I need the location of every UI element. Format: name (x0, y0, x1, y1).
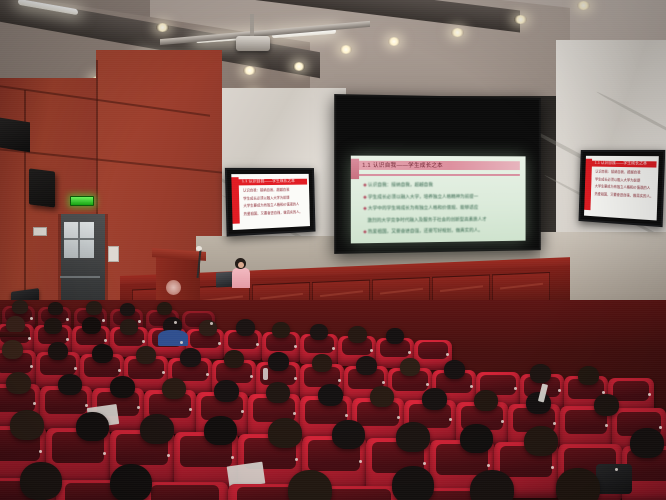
audience-head (474, 390, 498, 411)
left-lcd-display: 1.1 认识自我——学生成长之本 认识自我：接纳自我，超越自我 学生成长必须以融… (225, 168, 316, 237)
lcd-slide: 1.1 认识自我——学生成长之本 认识自我：接纳自我，超越自我 学生成长必须以融… (584, 156, 659, 221)
audience-head (162, 378, 186, 399)
wall-speaker (0, 118, 30, 153)
microphone-icon (196, 246, 202, 251)
audience-head (396, 422, 430, 452)
audience-head (370, 386, 394, 407)
slide-body: 认识自我：接纳自我，超越自我 学生成长必须以融入大学为前提 大学生要成为有独立人… (243, 188, 306, 220)
audience-head (48, 342, 68, 360)
audience-head (224, 350, 244, 368)
wall-control-plate[interactable] (33, 227, 47, 236)
lcd-slide: 1.1 认识自我——学生成长之本 认识自我：接纳自我，超越自我 学生成长必须以融… (231, 174, 310, 230)
audience-head (310, 324, 328, 340)
audience-head (578, 366, 599, 385)
audience-head (530, 364, 551, 383)
slide-bullet: 大学生要成为有独立人格和价值观的人 (243, 203, 306, 209)
audience-head (630, 428, 664, 458)
audience-head (92, 344, 113, 363)
main-projection-screen: 1.1 认识自我——学生成长之本 ◆认识自我：接纳自我，超越自我 ◆学生成长必须… (334, 94, 541, 254)
ceiling-downlight (388, 37, 400, 46)
audience-head (6, 372, 31, 394)
slide-bullet: ◆热爱祖国，又要奋进自强，还要写好规划，做真实的人。 (363, 227, 518, 234)
audience-head (266, 382, 290, 403)
audience-head (120, 319, 138, 335)
slide-bullet: ◆大学中的学生将成长为有独立人格和价值观、能够适应 (363, 205, 518, 211)
audience-head (20, 462, 62, 500)
bullet-marker: ◆ (363, 194, 367, 199)
slide-bullet: ◆学生成长必须以融入大学，培养独立人格精神为前提一 (363, 193, 518, 199)
audience-head (470, 470, 514, 500)
audience-head (348, 326, 367, 343)
audience-head (2, 340, 23, 359)
slide-bullet: ◆认识自我：接纳自我，超越自我 (363, 182, 518, 187)
audience-head (356, 356, 377, 375)
door-railing (60, 276, 100, 278)
water-bottle (263, 368, 268, 380)
audience-head (268, 352, 289, 371)
slide-bullet: 激烈的大学竞争时代融入及服务于社会的创新型高素质人才 (367, 216, 518, 223)
audience-head (12, 300, 28, 314)
window-mullion (78, 222, 80, 258)
audience-head (422, 388, 447, 410)
exit-sign (70, 196, 94, 206)
slide-bullet: 大学生要成为有独立人格和价值观的人 (595, 185, 654, 191)
audience-seating (0, 300, 666, 500)
audience-head (268, 418, 302, 448)
audience-head (110, 464, 152, 500)
ceiling-downlight (451, 28, 464, 37)
slide-bullet: 认识自我：接纳自我，超越自我 (595, 170, 654, 175)
slide-title: 1.1 认识自我——学生成长之本 (595, 160, 648, 167)
audience-head (180, 348, 201, 367)
audience-head (48, 302, 63, 315)
audience-head (76, 412, 109, 441)
slide-bullet: 热爱祖国，又要奋进自强，做真实的人。 (595, 193, 654, 199)
presenter-face (238, 262, 244, 269)
ceiling-downlight (293, 62, 305, 71)
aisle-step (0, 332, 30, 337)
podium-emblem (166, 280, 181, 295)
audience-head (444, 360, 465, 379)
slide-accent-strip (351, 159, 359, 179)
audience-head (332, 420, 365, 449)
audience-head (556, 468, 600, 500)
ceiling-downlight (243, 66, 256, 75)
audience-head (204, 416, 237, 445)
ceiling-downlight (514, 15, 527, 24)
slide-body: 认识自我：接纳自我，超越自我 学生成长必须以融入大学为前提 大学生要成为有独立人… (594, 170, 654, 202)
audience-head (318, 384, 343, 406)
slide-title: 1.1 认识自我——学生成长之本 (362, 160, 443, 168)
bullet-marker: ◆ (363, 206, 367, 211)
audience-head (400, 358, 420, 376)
audience-head (236, 319, 255, 336)
audience-head (312, 354, 332, 372)
slide-divider (359, 174, 520, 176)
seat[interactable] (142, 482, 228, 500)
audience-head (44, 318, 62, 334)
audience-head (140, 414, 174, 444)
audience-head (460, 424, 493, 453)
wall-speaker (29, 168, 55, 207)
audience-head (10, 410, 44, 440)
wall-notice (108, 246, 119, 262)
audience-head (386, 328, 404, 344)
presenter (232, 258, 250, 288)
presenter-body (232, 268, 250, 288)
audience-head (524, 426, 558, 456)
ceiling-downlight (156, 23, 169, 32)
slide-bullet: 学生成长必须以融入大学为前提 (595, 178, 654, 183)
audience-head (594, 394, 619, 416)
slide-body: ◆认识自我：接纳自我，超越自我 ◆学生成长必须以融入大学，培养独立人格精神为前提… (363, 182, 518, 241)
bullet-marker: ◆ (363, 229, 367, 234)
audience-head (199, 320, 217, 336)
ceiling-downlight (340, 45, 352, 54)
audience-head (82, 317, 101, 334)
audience-head (272, 322, 290, 338)
audience-head (214, 380, 239, 402)
projector-pole (250, 14, 254, 38)
bullet-marker: ◆ (363, 182, 367, 187)
audience-head (120, 303, 135, 316)
slide-bullet: 学生成长必须以融入大学为前提 (243, 196, 306, 201)
lecture-hall-photo: 1.1 认识自我——学生成长之本 ◆认识自我：接纳自我，超越自我 ◆学生成长必须… (0, 0, 666, 500)
slide-title: 1.1 认识自我——学生成长之本 (242, 178, 295, 185)
projector (236, 36, 270, 51)
audience-head (136, 346, 156, 364)
audience-shoulders (158, 330, 188, 346)
projected-slide: 1.1 认识自我——学生成长之本 ◆认识自我：接纳自我，超越自我 ◆学生成长必须… (351, 156, 526, 244)
audience-head (110, 376, 135, 398)
audience-head (6, 316, 25, 333)
audience-head (86, 301, 102, 315)
audience-head (157, 302, 172, 315)
ceiling-downlight (577, 1, 590, 10)
audience-head (392, 466, 434, 500)
right-lcd-display: 1.1 认识自我——学生成长之本 认识自我：接纳自我，超越自我 学生成长必须以融… (579, 150, 666, 227)
slide-bullet: 认识自我：接纳自我，超越自我 (243, 188, 306, 193)
audience-head (58, 374, 82, 395)
slide-bullet: 热爱祖国，又要奋进自强，做真实的人。 (244, 210, 306, 216)
audience-head (288, 470, 332, 500)
